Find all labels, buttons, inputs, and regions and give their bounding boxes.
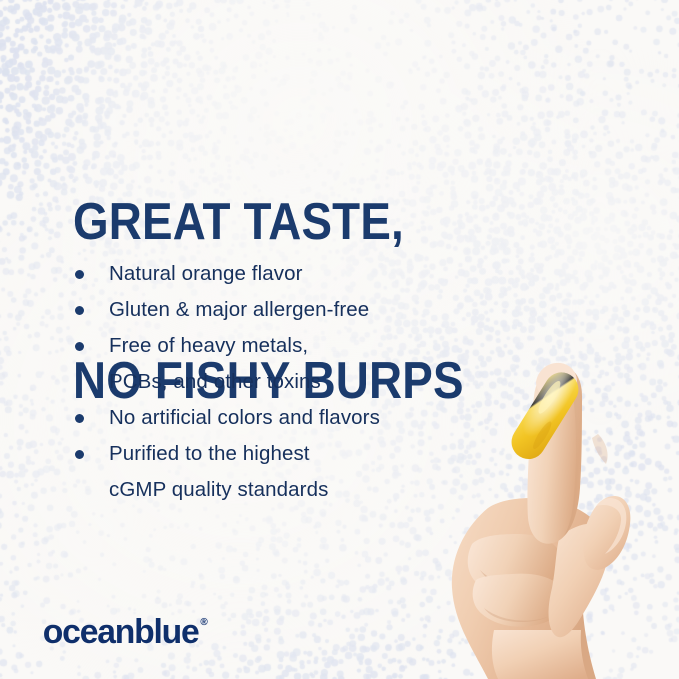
list-item: Free of heavy metals, PCBs, and other to… bbox=[72, 328, 472, 400]
bullet-dot-icon bbox=[75, 306, 84, 315]
list-item-label: Free of heavy metals, bbox=[109, 328, 472, 364]
knuckle-shadow bbox=[480, 560, 564, 590]
list-item-label: Natural orange flavor bbox=[109, 256, 472, 292]
brand-logo-text: oceanblue bbox=[43, 615, 199, 649]
list-item-label: No artificial colors and flavors bbox=[109, 400, 472, 436]
feature-list: Natural orange flavor Gluten & major all… bbox=[72, 256, 472, 508]
product-infographic: GREAT TASTE, NO FISHY BURPS Natural oran… bbox=[0, 0, 679, 679]
bullet-dot-icon bbox=[75, 270, 84, 279]
brand-logo: oceanblue® bbox=[42, 612, 207, 649]
thumb-tip-shape bbox=[583, 496, 630, 570]
index-fingertip bbox=[536, 363, 577, 400]
wrist-shape bbox=[492, 630, 588, 679]
yellow-softgel-capsule bbox=[505, 366, 585, 465]
list-item-label-continuation: PCBs, and other toxins bbox=[109, 364, 472, 400]
bullet-dot-icon bbox=[75, 450, 84, 459]
pill-contact-shadow bbox=[592, 434, 608, 464]
bullet-dot-icon bbox=[75, 342, 84, 351]
list-item-label: Purified to the highest bbox=[109, 436, 472, 472]
headline-line-1: GREAT TASTE, bbox=[73, 196, 443, 249]
list-item: Natural orange flavor bbox=[72, 256, 472, 292]
index-finger-shading bbox=[564, 370, 582, 536]
thumb-shape bbox=[549, 524, 610, 638]
thumb-tip-highlight bbox=[596, 498, 626, 554]
list-item: Purified to the highest cGMP quality sta… bbox=[72, 436, 472, 508]
ring-finger-fold bbox=[473, 574, 565, 627]
index-finger-shape bbox=[527, 366, 582, 544]
list-item-label: Gluten & major allergen-free bbox=[109, 292, 472, 328]
palm-shape bbox=[452, 498, 596, 679]
middle-finger-knuckle bbox=[468, 534, 563, 598]
list-item-label-continuation: cGMP quality standards bbox=[109, 472, 472, 508]
list-item: Gluten & major allergen-free bbox=[72, 292, 472, 328]
bullet-dot-icon bbox=[75, 414, 84, 423]
ring-finger-shadow bbox=[484, 596, 567, 622]
registered-trademark-icon: ® bbox=[200, 617, 207, 628]
list-item: No artificial colors and flavors bbox=[72, 400, 472, 436]
